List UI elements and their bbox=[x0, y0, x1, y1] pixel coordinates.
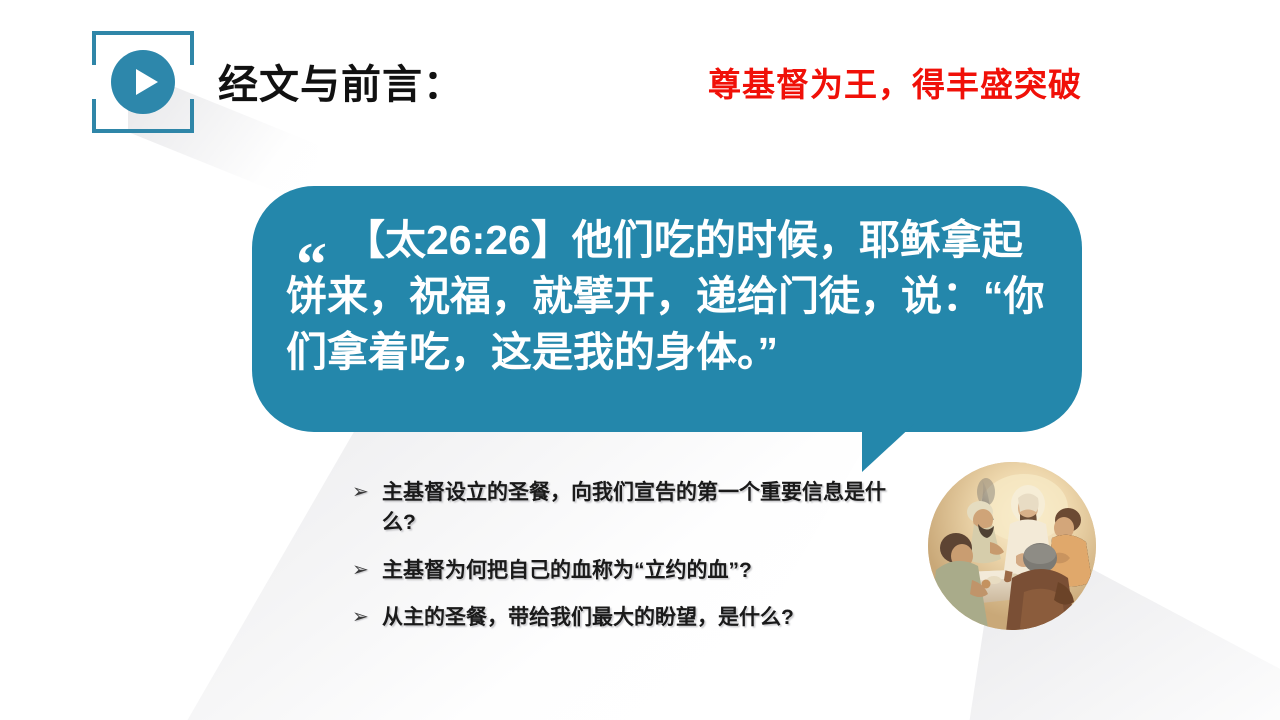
list-item: ➢ 从主的圣餐，带给我们最大的盼望，是什么? bbox=[352, 603, 912, 633]
list-item: ➢ 主基督设立的圣餐，向我们宣告的第一个重要信息是什么? bbox=[352, 478, 912, 539]
arrow-bullet-icon: ➢ bbox=[352, 603, 382, 632]
arrow-bullet-icon: ➢ bbox=[352, 478, 382, 507]
scripture-quote-bubble: “ 【太26:26】他们吃的时候，耶稣拿起饼来，祝福，就擘开，递给门徒，说：“你… bbox=[252, 186, 1082, 432]
play-circle-icon[interactable] bbox=[111, 50, 175, 114]
page-title: 经文与前言： bbox=[218, 52, 464, 110]
scripture-quote-text: 【太26:26】他们吃的时候，耶稣拿起饼来，祝福，就擘开，递给门徒，说：“你们拿… bbox=[286, 212, 1048, 380]
last-supper-circle-image bbox=[928, 462, 1096, 630]
question-text: 从主的圣餐，带给我们最大的盼望，是什么? bbox=[382, 603, 912, 633]
question-list: ➢ 主基督设立的圣餐，向我们宣告的第一个重要信息是什么? ➢ 主基督为何把自己的… bbox=[352, 478, 912, 651]
quote-inner: “ 【太26:26】他们吃的时候，耶稣拿起饼来，祝福，就擘开，递给门徒，说：“你… bbox=[286, 212, 1048, 380]
question-text: 主基督为何把自己的血称为“立约的血”? bbox=[382, 556, 912, 586]
list-item: ➢ 主基督为何把自己的血称为“立约的血”? bbox=[352, 556, 912, 586]
open-quote-icon: “ bbox=[296, 244, 327, 287]
slide-header: 经文与前言： 尊基督为王，得丰盛突破 bbox=[0, 0, 1280, 150]
play-triangle-icon bbox=[136, 69, 158, 95]
question-text: 主基督设立的圣餐，向我们宣告的第一个重要信息是什么? bbox=[382, 478, 912, 539]
page-subtitle: 尊基督为王，得丰盛突破 bbox=[708, 58, 1082, 106]
arrow-bullet-icon: ➢ bbox=[352, 556, 382, 585]
quote-bubble-tail bbox=[862, 424, 914, 472]
slide-canvas: 经文与前言： 尊基督为王，得丰盛突破 “ 【太26:26】他们吃的时候，耶稣拿起… bbox=[0, 0, 1280, 720]
bracket-frame-icon bbox=[92, 31, 194, 133]
